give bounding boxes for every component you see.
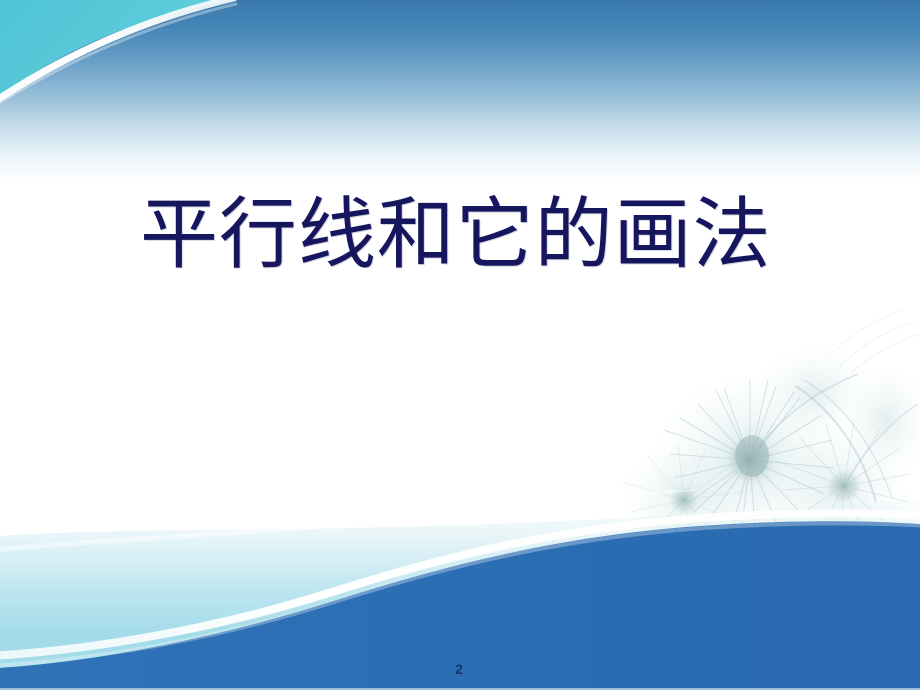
slide-header-band [0,0,920,185]
top-swoosh-curve-icon [0,0,330,134]
footer-blue-wave-icon [0,490,920,690]
slide-title: 平行线和它的画法 [140,192,840,279]
page-number: 2 [444,661,474,677]
slide-footer-wave [0,490,920,690]
slide-canvas: 平行线和它的画法 [0,0,920,690]
